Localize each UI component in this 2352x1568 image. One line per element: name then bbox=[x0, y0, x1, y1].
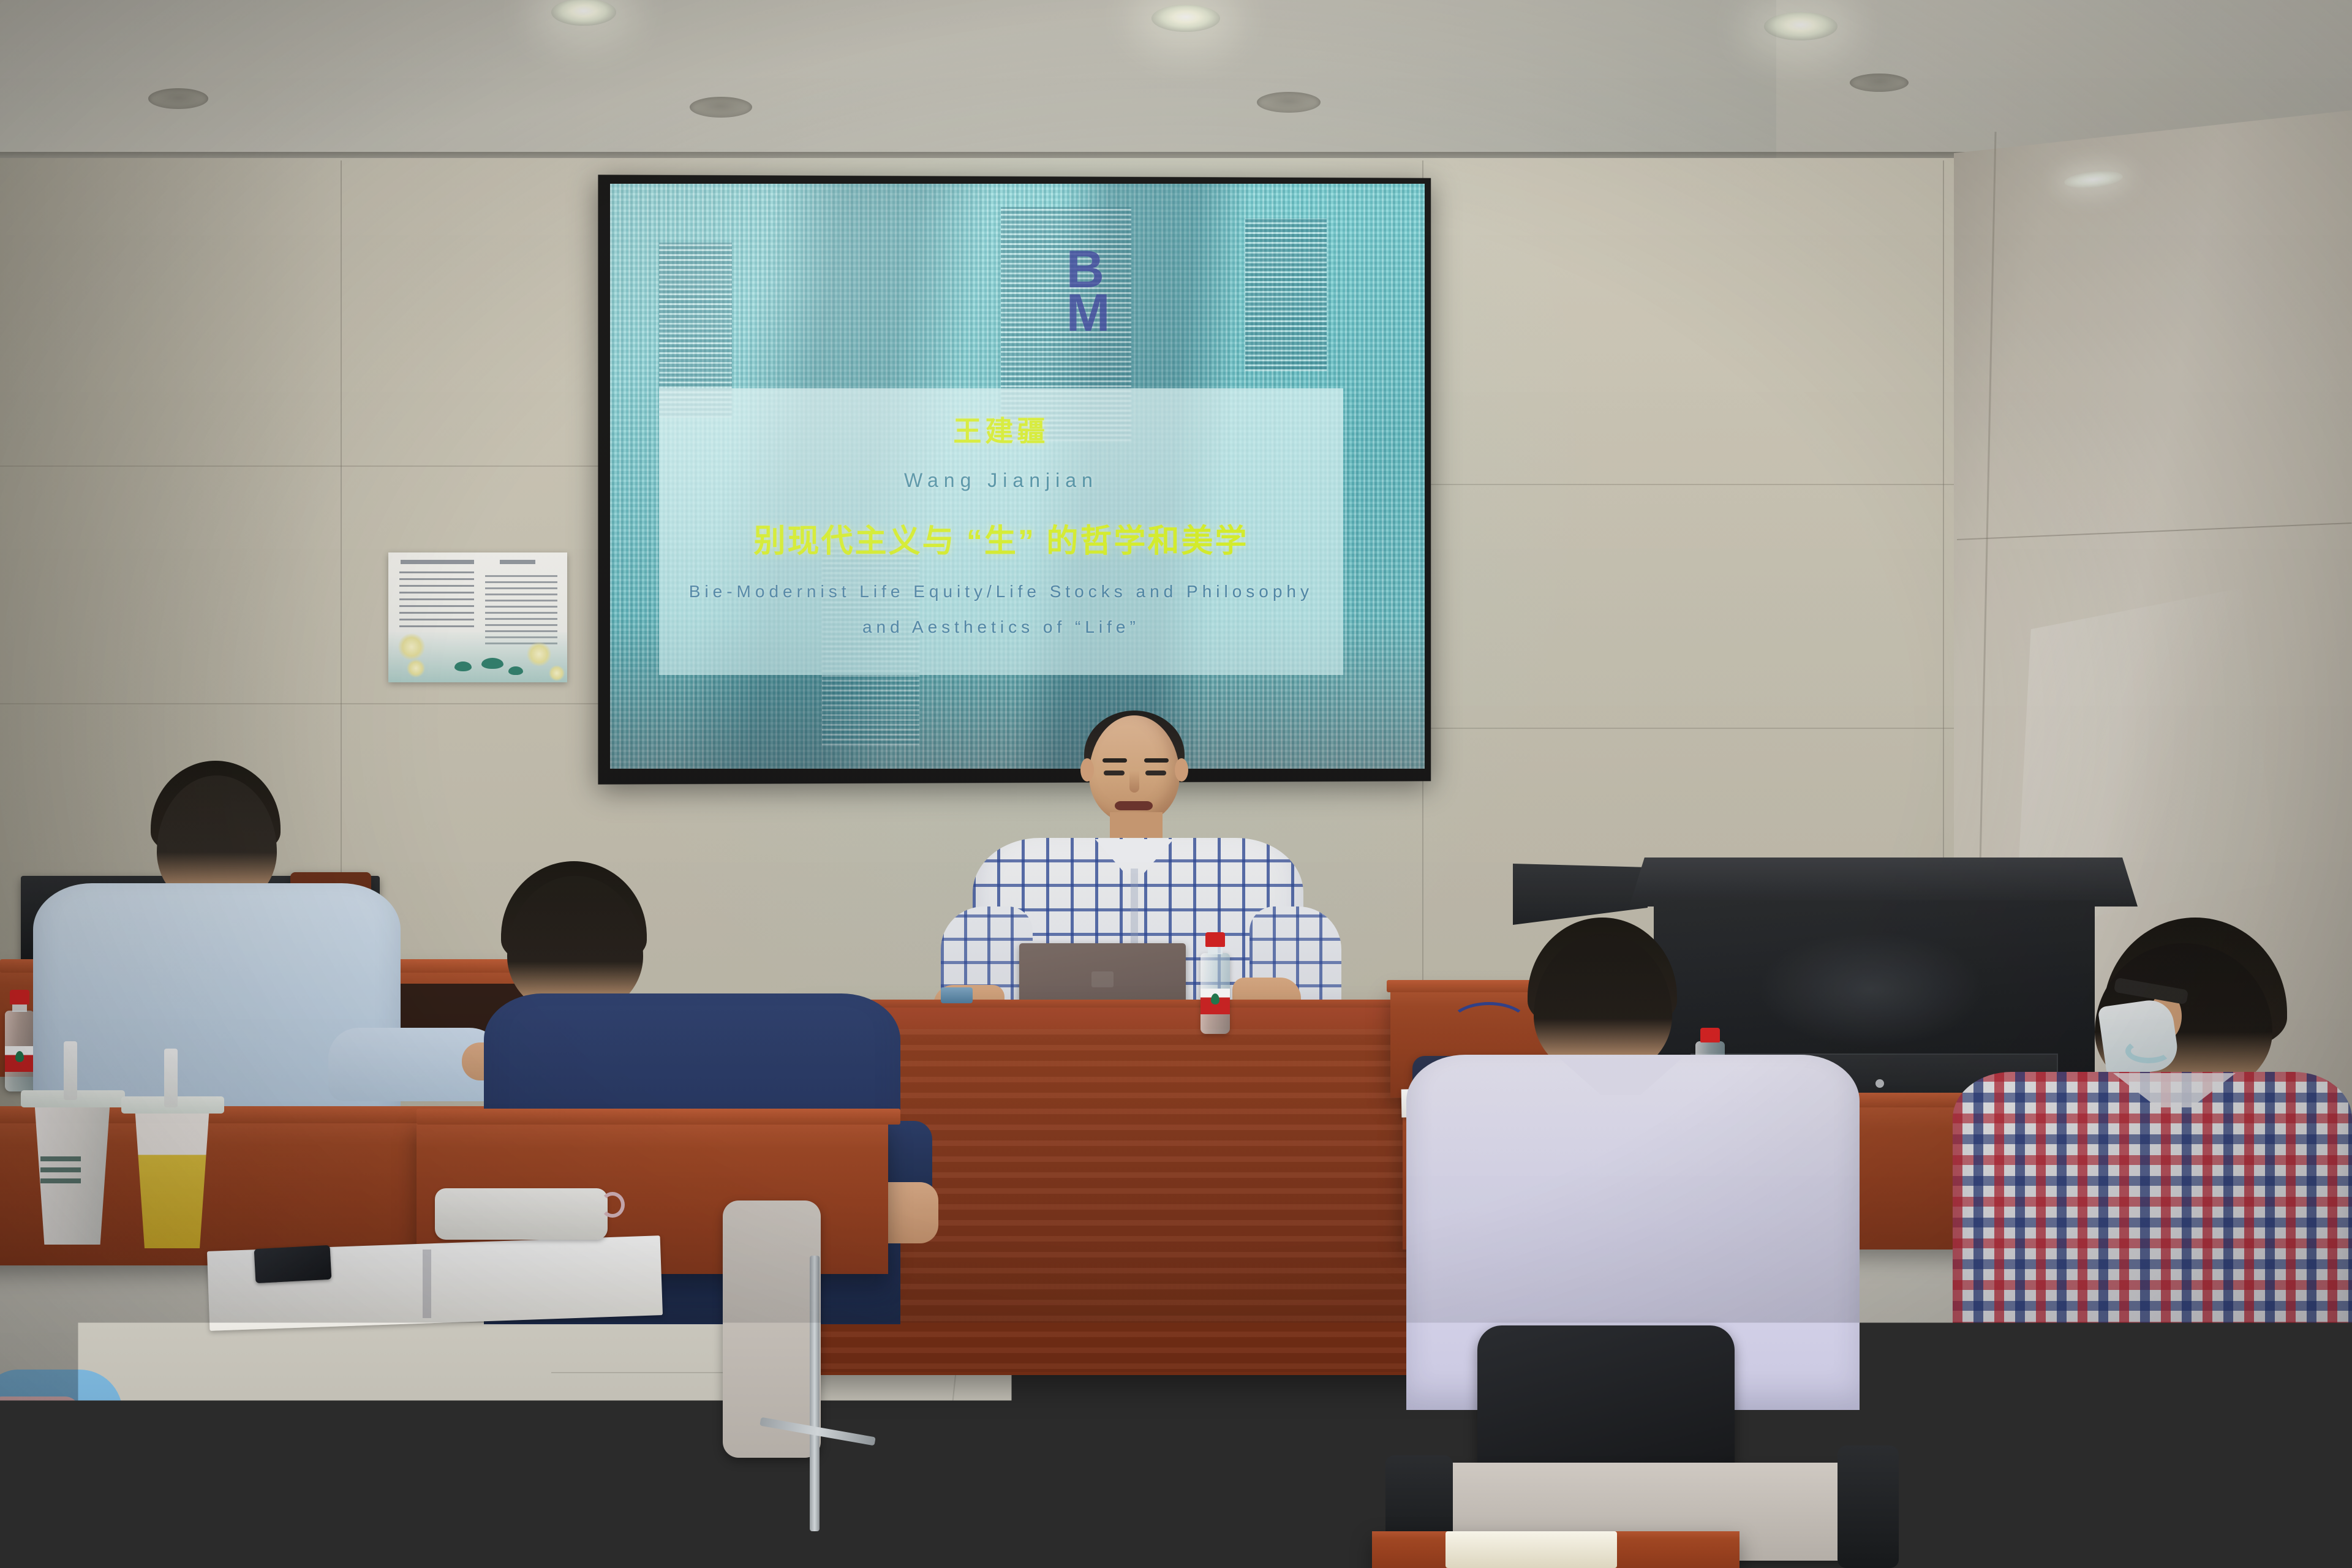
face-mask-earloop bbox=[2125, 1039, 2172, 1063]
mid-desk-left-top bbox=[417, 1109, 900, 1125]
lotus-leaf bbox=[454, 661, 472, 671]
chair-armrest-right-2[interactable] bbox=[1838, 1445, 1899, 1568]
notebook-spine bbox=[423, 1249, 431, 1318]
floor-tile-line bbox=[527, 1470, 1445, 1471]
av-cable bbox=[1449, 1002, 1529, 1049]
face-mask bbox=[2098, 997, 2180, 1078]
slide-subtitle-en-line1: Bie-Modernist Life Equity/Life Stocks an… bbox=[689, 582, 1313, 601]
downlight-1 bbox=[551, 0, 616, 26]
slide-title-cn: 别现代主义与 “生” 的哲学和美学 bbox=[753, 515, 1248, 561]
grey-chair-right-2[interactable] bbox=[2040, 1470, 2352, 1568]
front-desk-left-lower bbox=[0, 1509, 343, 1568]
slide-subtitle-en-line2: and Aesthetics of “Life” bbox=[862, 617, 1140, 637]
lotus-flower bbox=[398, 633, 425, 660]
speaker-mouth bbox=[1115, 801, 1153, 810]
podium-bottle-leaf-logo bbox=[1211, 993, 1219, 1005]
pouch-strap bbox=[600, 1192, 625, 1218]
downlight-4 bbox=[1850, 73, 1909, 92]
downlight-3 bbox=[1764, 12, 1838, 40]
wall-poster bbox=[388, 552, 567, 682]
foreground-cushion bbox=[0, 1396, 80, 1470]
podium-bottle-cap bbox=[1205, 932, 1225, 947]
downlight-2 bbox=[1151, 5, 1220, 32]
projection-screen[interactable]: B M 王建疆 Wang Jianjian 别现代主义与 “生” 的哲学和美学 … bbox=[610, 184, 1425, 769]
wall-seam bbox=[0, 466, 600, 467]
av-console-speaker bbox=[1758, 931, 1985, 1047]
lotus-flower bbox=[527, 642, 551, 666]
downlight-7 bbox=[1257, 92, 1321, 113]
slide-text-block: 王建疆 Wang Jianjian 别现代主义与 “生” 的哲学和美学 Bie-… bbox=[659, 388, 1343, 675]
speaker-ear-left bbox=[1080, 758, 1094, 782]
bottle-leaf-logo bbox=[15, 1051, 24, 1062]
paper-stack-right[interactable] bbox=[1445, 1531, 1617, 1568]
bie-modernism-logo: B M bbox=[1066, 248, 1108, 334]
smartphone-on-notebook[interactable] bbox=[254, 1245, 332, 1283]
slide-speaker-name-pinyin: Wang Jianjian bbox=[904, 469, 1098, 492]
speaker-eye-right bbox=[1145, 771, 1166, 775]
lemon-tea-straw[interactable] bbox=[164, 1049, 178, 1107]
laptop-logo bbox=[1091, 971, 1114, 987]
speaker-eye-left bbox=[1104, 771, 1125, 775]
lotus-flower bbox=[407, 659, 425, 677]
speaker-eyebrow-right bbox=[1144, 758, 1169, 763]
poster-heading-left bbox=[401, 560, 474, 564]
milk-tea-cup-logo bbox=[40, 1156, 81, 1183]
speaker-nose bbox=[1129, 771, 1139, 793]
milk-tea-straw[interactable] bbox=[64, 1041, 77, 1100]
chair-frame-rod-left bbox=[810, 1256, 820, 1531]
city-building bbox=[1245, 219, 1327, 371]
poster-text-column-left bbox=[399, 571, 474, 627]
lotus-leaf bbox=[481, 658, 503, 669]
downlight-6 bbox=[690, 97, 752, 118]
lotus-flower bbox=[549, 665, 565, 681]
wall-seam bbox=[0, 703, 600, 704]
pencil-pouch[interactable] bbox=[435, 1188, 608, 1240]
av-console-knob[interactable] bbox=[1875, 1079, 1884, 1088]
lotus-leaf bbox=[508, 666, 523, 675]
av-console-top bbox=[1629, 858, 2138, 907]
downlight-5 bbox=[148, 88, 208, 109]
speaker-ear-right bbox=[1175, 758, 1188, 782]
bottle-cap-right bbox=[1700, 1028, 1720, 1042]
lecture-hall-photo: B M 王建疆 Wang Jianjian 别现代主义与 “生” 的哲学和美学 … bbox=[0, 0, 2352, 1568]
wireless-presenter[interactable] bbox=[941, 987, 973, 1003]
poster-heading-right bbox=[500, 560, 535, 564]
speaker-eyebrow-left bbox=[1102, 758, 1127, 763]
slide-speaker-name-cn: 王建疆 bbox=[953, 409, 1049, 450]
bottle-cap bbox=[10, 990, 29, 1005]
